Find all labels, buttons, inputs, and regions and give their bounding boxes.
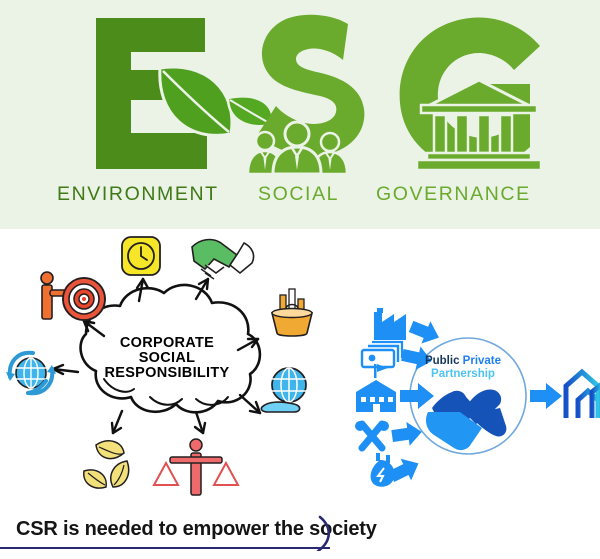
letter-e-group (96, 18, 273, 169)
csr-center-line-2: SOCIAL (82, 351, 252, 366)
money-cash-icon (362, 342, 402, 367)
esg-banner: ENVIRONMENT SOCIAL GOVERNANCE (0, 0, 600, 229)
ppp-diagram-graphic (340, 300, 600, 490)
csr-center-line-1: CORPORATE (82, 336, 252, 351)
csr-center-line-3: RESPONSIBILITY (82, 366, 252, 381)
esg-letters-graphic (0, 6, 600, 174)
globe-hand-icon (261, 368, 306, 412)
tools-icon (355, 421, 389, 448)
ppp-input-icons (355, 308, 406, 487)
scales-icon (154, 439, 238, 495)
footer-swoosh-icon (296, 515, 336, 551)
globe-cycle-icon (6, 353, 56, 393)
infographic-page: ENVIRONMENT SOCIAL GOVERNANCE (0, 0, 600, 559)
letter-g-group (400, 18, 541, 170)
esg-label-social: SOCIAL (258, 183, 339, 206)
ppp-word-private: Private (463, 355, 501, 367)
ppp-diagram (340, 300, 600, 490)
footer-rule (0, 547, 330, 549)
ppp-word-public: Public (425, 355, 460, 367)
ppp-output-arrow (530, 383, 562, 409)
clock-icon (122, 237, 160, 275)
factory-icon (374, 308, 406, 340)
market-chart-icon (272, 289, 312, 336)
esg-label-environment: ENVIRONMENT (57, 183, 219, 206)
handshake-icon (192, 240, 254, 279)
school-building-icon (356, 364, 396, 412)
recycle-leaf-icon (84, 441, 129, 488)
letter-s-group (248, 15, 364, 174)
esg-label-governance: GOVERNANCE (376, 183, 531, 206)
esg-label-row: ENVIRONMENT SOCIAL GOVERNANCE (0, 183, 600, 211)
ppp-title: Public Private Partnership (408, 355, 518, 381)
power-plug-icon (371, 453, 395, 487)
csr-center-label: CORPORATE SOCIAL RESPONSIBILITY (82, 336, 252, 381)
ppp-title-line-1: Public Private (408, 355, 518, 368)
footer-bar: CSR is needed to empower the society (0, 509, 600, 559)
houses-icon (566, 372, 600, 418)
target-person-icon (41, 272, 105, 320)
ppp-word-partnership: Partnership (408, 368, 518, 381)
